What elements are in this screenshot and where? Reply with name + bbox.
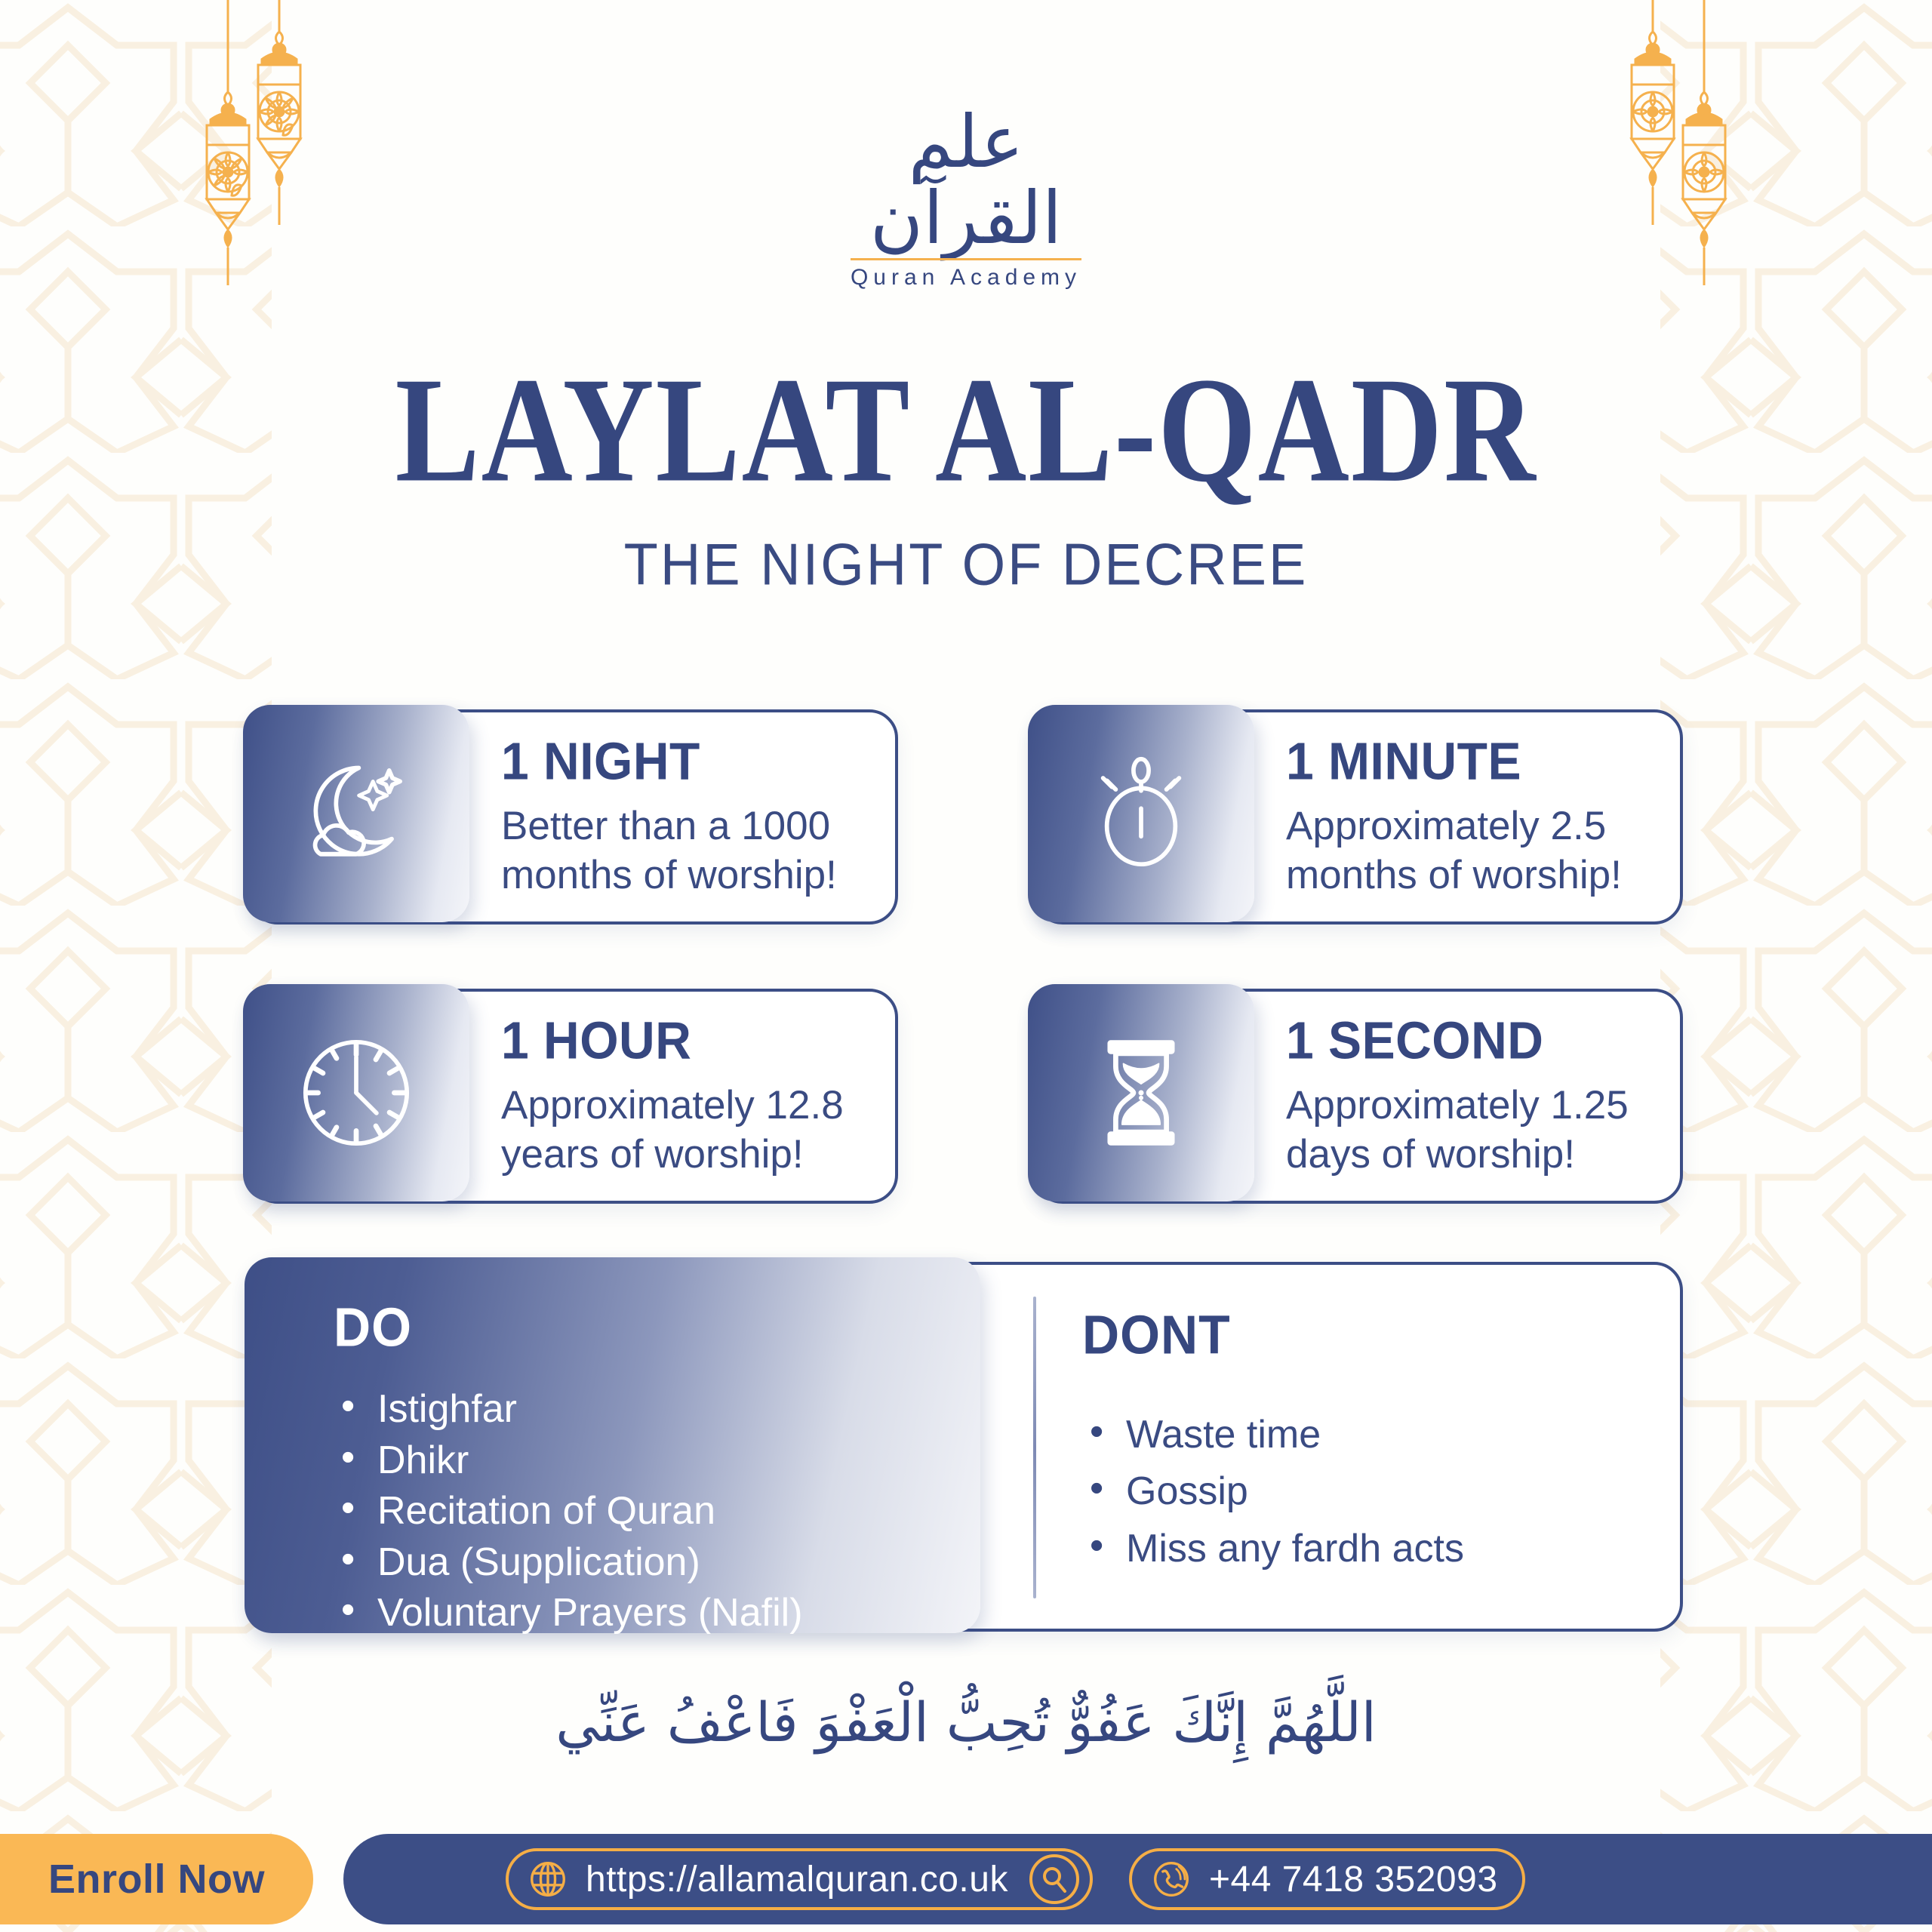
website-pill[interactable]: https://allamalquran.co.uk	[506, 1848, 1093, 1910]
stat-card-minute: 1 MINUTE Approximately 2.5 months of wor…	[1034, 709, 1683, 924]
website-url: https://allamalquran.co.uk	[586, 1859, 1008, 1900]
stat-card-description: Approximately 12.8 years of worship!	[501, 1081, 872, 1179]
dont-heading: DONT	[1082, 1304, 1464, 1367]
stat-card-night: 1 NIGHT Better than a 1000 months of wor…	[249, 709, 898, 924]
lantern-icon-group	[181, 0, 370, 287]
lantern-icon	[207, 0, 249, 285]
moon-stars-cloud-icon	[243, 705, 469, 922]
list-item: Recitation of Quran	[334, 1486, 980, 1537]
stat-card-heading: 1 NIGHT	[501, 734, 872, 789]
enroll-now-button[interactable]: Enroll Now	[0, 1834, 313, 1924]
lantern-icon	[1632, 0, 1674, 225]
page-subtitle: THE NIGHT OF DECREE	[0, 531, 1932, 598]
phone-pill[interactable]: +44 7418 352093	[1129, 1848, 1525, 1910]
stopwatch-icon	[1028, 705, 1254, 922]
phone-number: +44 7418 352093	[1209, 1859, 1512, 1900]
stat-card-hour: 1 HOUR Approximately 12.8 years of worsh…	[249, 989, 898, 1204]
logo-arabic: علم القرآن	[804, 104, 1128, 257]
page-title: LAYLAT AL-QADR	[38, 355, 1894, 506]
list-item: Miss any fardh acts	[1082, 1521, 1464, 1577]
list-item: Gossip	[1082, 1463, 1464, 1520]
stat-card-second: 1 SECOND Approximately 1.25 days of wors…	[1034, 989, 1683, 1204]
globe-icon	[527, 1858, 569, 1900]
footer-contact-bar: https://allamalquran.co.uk +44 7418 3520…	[343, 1834, 1932, 1924]
search-icon[interactable]	[1029, 1854, 1079, 1904]
hourglass-icon	[1028, 984, 1254, 1201]
stat-card-description: Better than a 1000 months of worship!	[501, 802, 872, 900]
stat-card-description: Approximately 1.25 days of worship!	[1286, 1081, 1657, 1179]
stat-card-grid: 1 NIGHT Better than a 1000 months of wor…	[249, 709, 1683, 1204]
lantern-icon	[1683, 0, 1725, 285]
do-dont-panel: DO Istighfar Dhikr Recitation of Quran D…	[249, 1262, 1683, 1632]
stat-card-body: 1 SECOND Approximately 1.25 days of wors…	[1286, 1013, 1680, 1180]
clock-icon	[243, 984, 469, 1201]
brand-logo: علم القرآن Quran Academy	[804, 104, 1128, 291]
lantern-icon-group	[1562, 0, 1751, 287]
stat-card-body: 1 NIGHT Better than a 1000 months of wor…	[501, 734, 895, 900]
lantern-icon	[258, 0, 300, 225]
footer-bar: Enroll Now https://allamalquran.co.uk	[0, 1826, 1932, 1932]
do-section: DO Istighfar Dhikr Recitation of Quran D…	[245, 1257, 980, 1633]
stat-card-body: 1 MINUTE Approximately 2.5 months of wor…	[1286, 734, 1680, 900]
list-item: Voluntary Prayers (Nafil)	[334, 1588, 980, 1639]
do-list: Istighfar Dhikr Recitation of Quran Dua …	[334, 1384, 980, 1639]
stat-card-heading: 1 HOUR	[501, 1013, 872, 1068]
list-item: Dua (Supplication)	[334, 1537, 980, 1589]
enroll-now-label: Enroll Now	[48, 1856, 265, 1903]
stat-card-description: Approximately 2.5 months of worship!	[1286, 802, 1657, 900]
lantern-cluster-right	[1562, 0, 1751, 291]
list-item: Istighfar	[334, 1384, 980, 1435]
phone-ringing-icon	[1150, 1858, 1192, 1900]
dont-section: DONT Waste time Gossip Miss any fardh ac…	[1082, 1304, 1509, 1577]
section-divider	[1033, 1297, 1036, 1598]
list-item: Waste time	[1082, 1407, 1464, 1463]
title-block: LAYLAT AL-QADR THE NIGHT OF DECREE	[0, 355, 1932, 596]
dont-list: Waste time Gossip Miss any fardh acts	[1082, 1407, 1464, 1577]
lantern-cluster-left	[181, 0, 370, 291]
do-heading: DO	[334, 1297, 980, 1359]
logo-name: Quran Academy	[851, 258, 1081, 291]
poster-canvas: علم القرآن Quran Academy LAYLAT AL-QADR …	[0, 0, 1932, 1932]
list-item: Dhikr	[334, 1435, 980, 1487]
dua-text: اللَّهُمَّ إِنَّكَ عَفُوٌّ تُحِبُّ الْعَ…	[0, 1679, 1932, 1766]
stat-card-heading: 1 MINUTE	[1286, 734, 1657, 789]
stat-card-body: 1 HOUR Approximately 12.8 years of worsh…	[501, 1013, 895, 1180]
stat-card-heading: 1 SECOND	[1286, 1013, 1657, 1068]
